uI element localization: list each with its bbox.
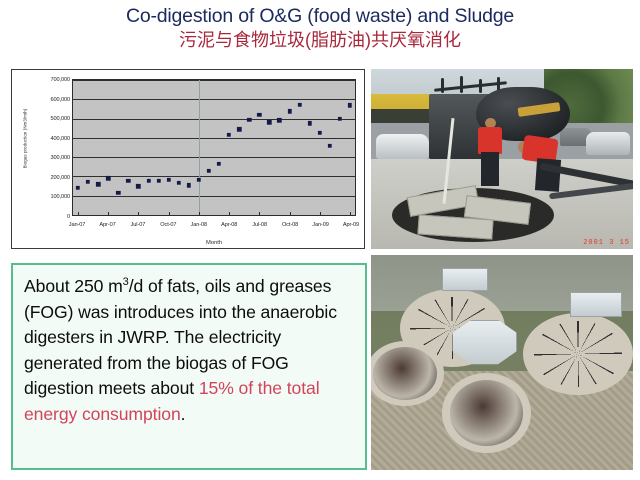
photo-car-left	[376, 134, 428, 159]
chart-x-tick-mark	[350, 212, 351, 215]
chart-x-tick-mark	[290, 212, 291, 215]
chart-data-point	[318, 131, 321, 134]
title-chinese: 污泥与食物垃圾(脂肪油)共厌氧消化	[0, 29, 640, 52]
chart-data-point	[147, 179, 150, 182]
chart-data-point	[338, 117, 341, 120]
chart-x-tick-label: Apr-08	[221, 222, 237, 228]
photo-car-right	[586, 132, 631, 155]
chart-x-tick-mark	[259, 212, 260, 215]
chart-data-point	[227, 133, 230, 136]
chart-gridline	[73, 80, 355, 81]
photo-tank-sludge-2	[450, 380, 523, 445]
chart-y-tick-label: 0	[26, 214, 70, 220]
chart-data-point	[76, 186, 79, 189]
photo-timestamp: 2001 3 15	[583, 239, 630, 247]
chart-data-point	[217, 162, 220, 165]
chart-data-point	[298, 103, 301, 106]
photo-tank-upper-right	[523, 313, 633, 395]
chart-x-tick-label: Apr-09	[343, 222, 359, 228]
chart-y-tick-label: 700,000	[26, 77, 70, 83]
chart-data-point	[348, 104, 351, 107]
chart-data-point	[117, 191, 120, 194]
callout-paragraph: About 250 m3/d of fats, oils and greases…	[24, 274, 355, 427]
chart-data-point	[278, 119, 281, 122]
chart-x-tick-mark	[320, 212, 321, 215]
chart-data-point	[308, 121, 311, 124]
chart-x-tick-label: Jan-07	[69, 222, 86, 228]
title-english: Co-digestion of O&G (food waste) and Slu…	[0, 4, 640, 28]
chart-x-tick-label: Jul-07	[131, 222, 146, 228]
chart-plot-area	[72, 79, 356, 216]
chart-x-axis-ticks: Jan-07Apr-07Jul-07Oct-07Jan-08Apr-08Jul-…	[72, 222, 356, 234]
chart-x-tick-mark	[169, 212, 170, 215]
chart-data-point	[86, 180, 89, 183]
photo-digester-tanks: 中国给水排水 water 8848 .com 中国水业网 PUB	[371, 255, 633, 470]
chart-data-point	[96, 182, 99, 185]
chart-y-tick-label: 100,000	[26, 194, 70, 200]
callout-text-lead: About 250 m	[24, 276, 123, 296]
page-title: Co-digestion of O&G (food waste) and Slu…	[0, 4, 640, 52]
chart-x-tick-mark	[229, 212, 230, 215]
chart-data-point	[107, 177, 110, 180]
photo-tanker-truck: 2001 3 15	[371, 69, 633, 249]
chart-x-tick-label: Jan-09	[312, 222, 329, 228]
chart-x-tick-mark	[138, 212, 139, 215]
chart-gridline	[73, 99, 355, 100]
slide: Co-digestion of O&G (food waste) and Slu…	[0, 0, 640, 480]
photo-tank-sludge-1	[373, 347, 437, 400]
chart-data-point	[258, 113, 261, 116]
chart-gridline	[73, 157, 355, 158]
photo-tank-lower-mid	[442, 373, 531, 453]
photo-control-hut-1	[442, 268, 489, 292]
photo-tank-scraper-2	[534, 321, 622, 386]
chart-x-axis-title: Month	[72, 240, 356, 246]
chart-x-tick-label: Jan-08	[191, 222, 208, 228]
chart-data-point	[137, 185, 140, 188]
chart-data-point	[187, 184, 190, 187]
chart-x-tick-mark	[199, 212, 200, 215]
chart-gridline	[73, 176, 355, 177]
photo-control-hut-3	[452, 320, 517, 365]
chart-y-tick-label: 500,000	[26, 116, 70, 122]
chart-y-tick-label: 400,000	[26, 136, 70, 142]
chart-x-tick-label: Oct-07	[160, 222, 176, 228]
biogas-production-chart: Biogas production (Nm3/mth) 0100,000200,…	[11, 69, 365, 249]
callout-text-tail: .	[181, 404, 186, 424]
chart-data-point	[127, 179, 130, 182]
photo-control-hut-2	[570, 292, 622, 318]
chart-data-point	[167, 178, 170, 181]
chart-x-tick-label: Oct-08	[282, 222, 298, 228]
chart-vertical-divider	[199, 80, 200, 215]
chart-gridline	[73, 119, 355, 120]
chart-data-point	[248, 118, 251, 121]
photo-tank-lower-left	[371, 341, 444, 406]
fog-summary-callout: About 250 m3/d of fats, oils and greases…	[11, 263, 367, 470]
chart-x-tick-label: Apr-07	[99, 222, 115, 228]
chart-data-point	[197, 178, 200, 181]
chart-gridline	[73, 138, 355, 139]
chart-y-tick-label: 300,000	[26, 155, 70, 161]
chart-data-point	[237, 127, 240, 130]
chart-y-tick-label: 200,000	[26, 175, 70, 181]
photo-worker-1-trousers	[481, 152, 499, 186]
chart-x-tick-mark	[78, 212, 79, 215]
chart-data-point	[288, 110, 291, 113]
chart-data-point	[268, 121, 271, 124]
chart-y-tick-label: 600,000	[26, 97, 70, 103]
photo-worker-1-shirt	[478, 127, 502, 154]
chart-data-point	[207, 169, 210, 172]
chart-data-point	[328, 144, 331, 147]
chart-x-tick-mark	[108, 212, 109, 215]
chart-data-point	[177, 181, 180, 184]
chart-y-axis-ticks: 0100,000200,000300,000400,000500,000600,…	[12, 70, 70, 248]
chart-x-tick-label: Jul-08	[252, 222, 267, 228]
chart-gridline	[73, 196, 355, 197]
chart-data-point	[157, 179, 160, 182]
